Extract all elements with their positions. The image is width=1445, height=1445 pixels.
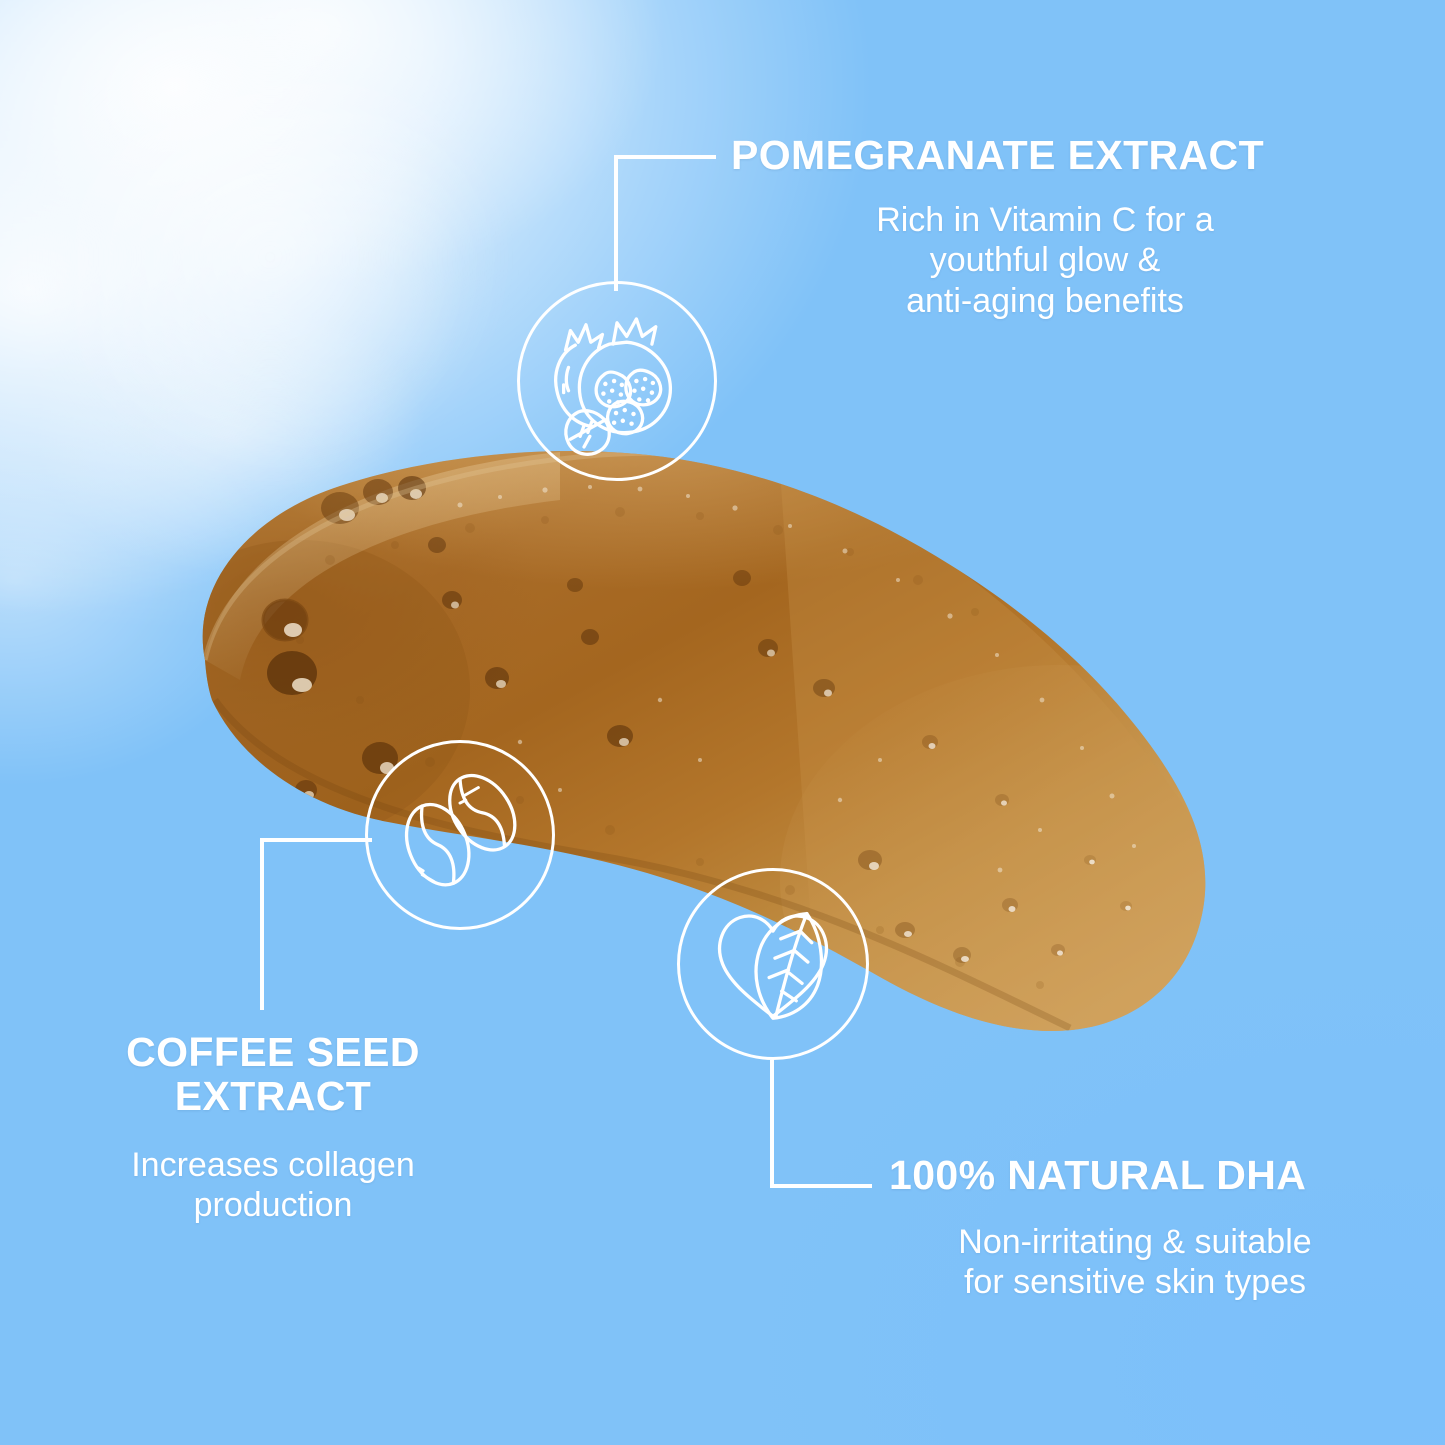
natural-dha-title: 100% NATURAL DHA <box>889 1153 1409 1197</box>
pomegranate-body: Rich in Vitamin C for a youthful glow & … <box>800 200 1290 321</box>
heart-leaf-icon-circle[interactable] <box>677 868 869 1060</box>
coffee-seed-title-line-1: COFFEE SEED <box>58 1030 488 1074</box>
coffee-seed-body-line-1: Increases collagen <box>48 1145 498 1185</box>
natural-dha-body-line-2: for sensitive skin types <box>890 1262 1380 1302</box>
coffee-seed-body: Increases collagen production <box>48 1145 498 1226</box>
leader-line-coffee <box>256 834 376 1014</box>
pomegranate-icon-circle[interactable] <box>517 281 717 481</box>
coffee-bean-icon-circle[interactable] <box>365 740 555 930</box>
pomegranate-title: POMEGRANATE EXTRACT <box>731 133 1371 177</box>
pomegranate-body-line-2: youthful glow & <box>800 240 1290 280</box>
natural-dha-body: Non-irritating & suitable for sensitive … <box>890 1222 1380 1303</box>
infographic-canvas: POMEGRANATE EXTRACT Rich in Vitamin C fo… <box>0 0 1445 1445</box>
coffee-bean-icon <box>368 743 552 927</box>
leader-line-pomegranate <box>610 150 720 295</box>
heart-leaf-icon <box>680 871 866 1057</box>
leader-line-dha <box>766 1058 876 1193</box>
coffee-seed-title: COFFEE SEED EXTRACT <box>58 1030 488 1119</box>
coffee-seed-title-line-2: EXTRACT <box>58 1074 488 1118</box>
pomegranate-body-line-1: Rich in Vitamin C for a <box>800 200 1290 240</box>
natural-dha-body-line-1: Non-irritating & suitable <box>890 1222 1380 1262</box>
coffee-seed-body-line-2: production <box>48 1185 498 1225</box>
pomegranate-body-line-3: anti-aging benefits <box>800 281 1290 321</box>
pomegranate-icon <box>520 284 714 478</box>
